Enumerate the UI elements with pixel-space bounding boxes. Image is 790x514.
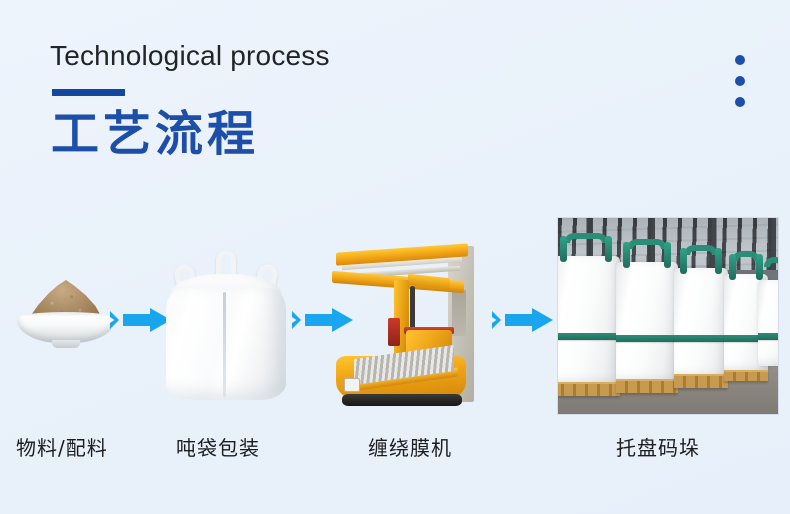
bowl-of-powder-graphic (14, 278, 118, 348)
flow-step-wrapping-image (332, 240, 488, 408)
warehouse-scene (558, 218, 778, 414)
palletized-bag (758, 280, 778, 366)
bag-strap (674, 335, 728, 342)
stretch-wrapper-graphic (332, 240, 488, 408)
flow-arrow-icon (492, 305, 554, 335)
flow-step-palletizing-image (558, 218, 778, 414)
machine-control-panel (344, 378, 360, 392)
bag-lifting-loop (605, 236, 612, 262)
kebab-menu-button[interactable] (735, 55, 745, 107)
bag-body (166, 288, 286, 400)
bag-lifting-loop (623, 242, 630, 268)
bag-lifting-loop (560, 236, 567, 262)
palletized-bag (616, 262, 678, 382)
bag-lifting-loop (729, 254, 736, 280)
wooden-pallet (616, 379, 678, 393)
bag-strap (758, 333, 778, 340)
bag-strap (616, 335, 678, 342)
process-flow-diagram (0, 205, 790, 420)
bulk-bag-graphic (162, 234, 290, 402)
menu-dot-icon (735, 97, 745, 107)
bag-lifting-loop (564, 233, 608, 243)
title-divider-rule (52, 89, 125, 96)
flow-step-label-bagging: 吨袋包装 (176, 432, 260, 461)
menu-dot-icon (735, 76, 745, 86)
bag-seam (223, 292, 226, 397)
page-header: Technological process 工艺流程 (50, 38, 330, 160)
bag-lifting-loop (664, 242, 671, 268)
flow-step-bagging-image (162, 234, 290, 402)
bag-lifting-loop (627, 239, 667, 249)
bowl-foot (52, 340, 80, 348)
bowl-body (17, 316, 115, 343)
flow-step-material-image (14, 278, 118, 348)
page-title-chinese: 工艺流程 (51, 109, 330, 160)
palletized-bag (674, 268, 728, 378)
bag-lifting-loop (684, 245, 719, 255)
bag-lifting-loop (715, 248, 722, 274)
wooden-pallet (674, 374, 728, 388)
bag-lifting-loop (756, 254, 763, 280)
bag-strap (558, 333, 620, 340)
flow-step-label-material: 物料/配料 (16, 432, 108, 461)
film-carriage (388, 318, 400, 346)
flow-step-label-wrapping: 缠绕膜机 (368, 432, 452, 461)
palletized-bag (558, 256, 620, 384)
menu-dot-icon (735, 55, 745, 65)
flow-step-captions: 物料/配料 吨袋包装 缠绕膜机 托盘码垛 (0, 432, 790, 468)
wooden-pallet (724, 370, 768, 381)
wooden-pallet (558, 382, 620, 396)
flow-step-label-palletizing: 托盘码垛 (616, 432, 700, 461)
bag-lifting-loop (680, 248, 687, 274)
machine-floor-base (342, 394, 462, 406)
page-title-english: Technological process (50, 38, 330, 73)
